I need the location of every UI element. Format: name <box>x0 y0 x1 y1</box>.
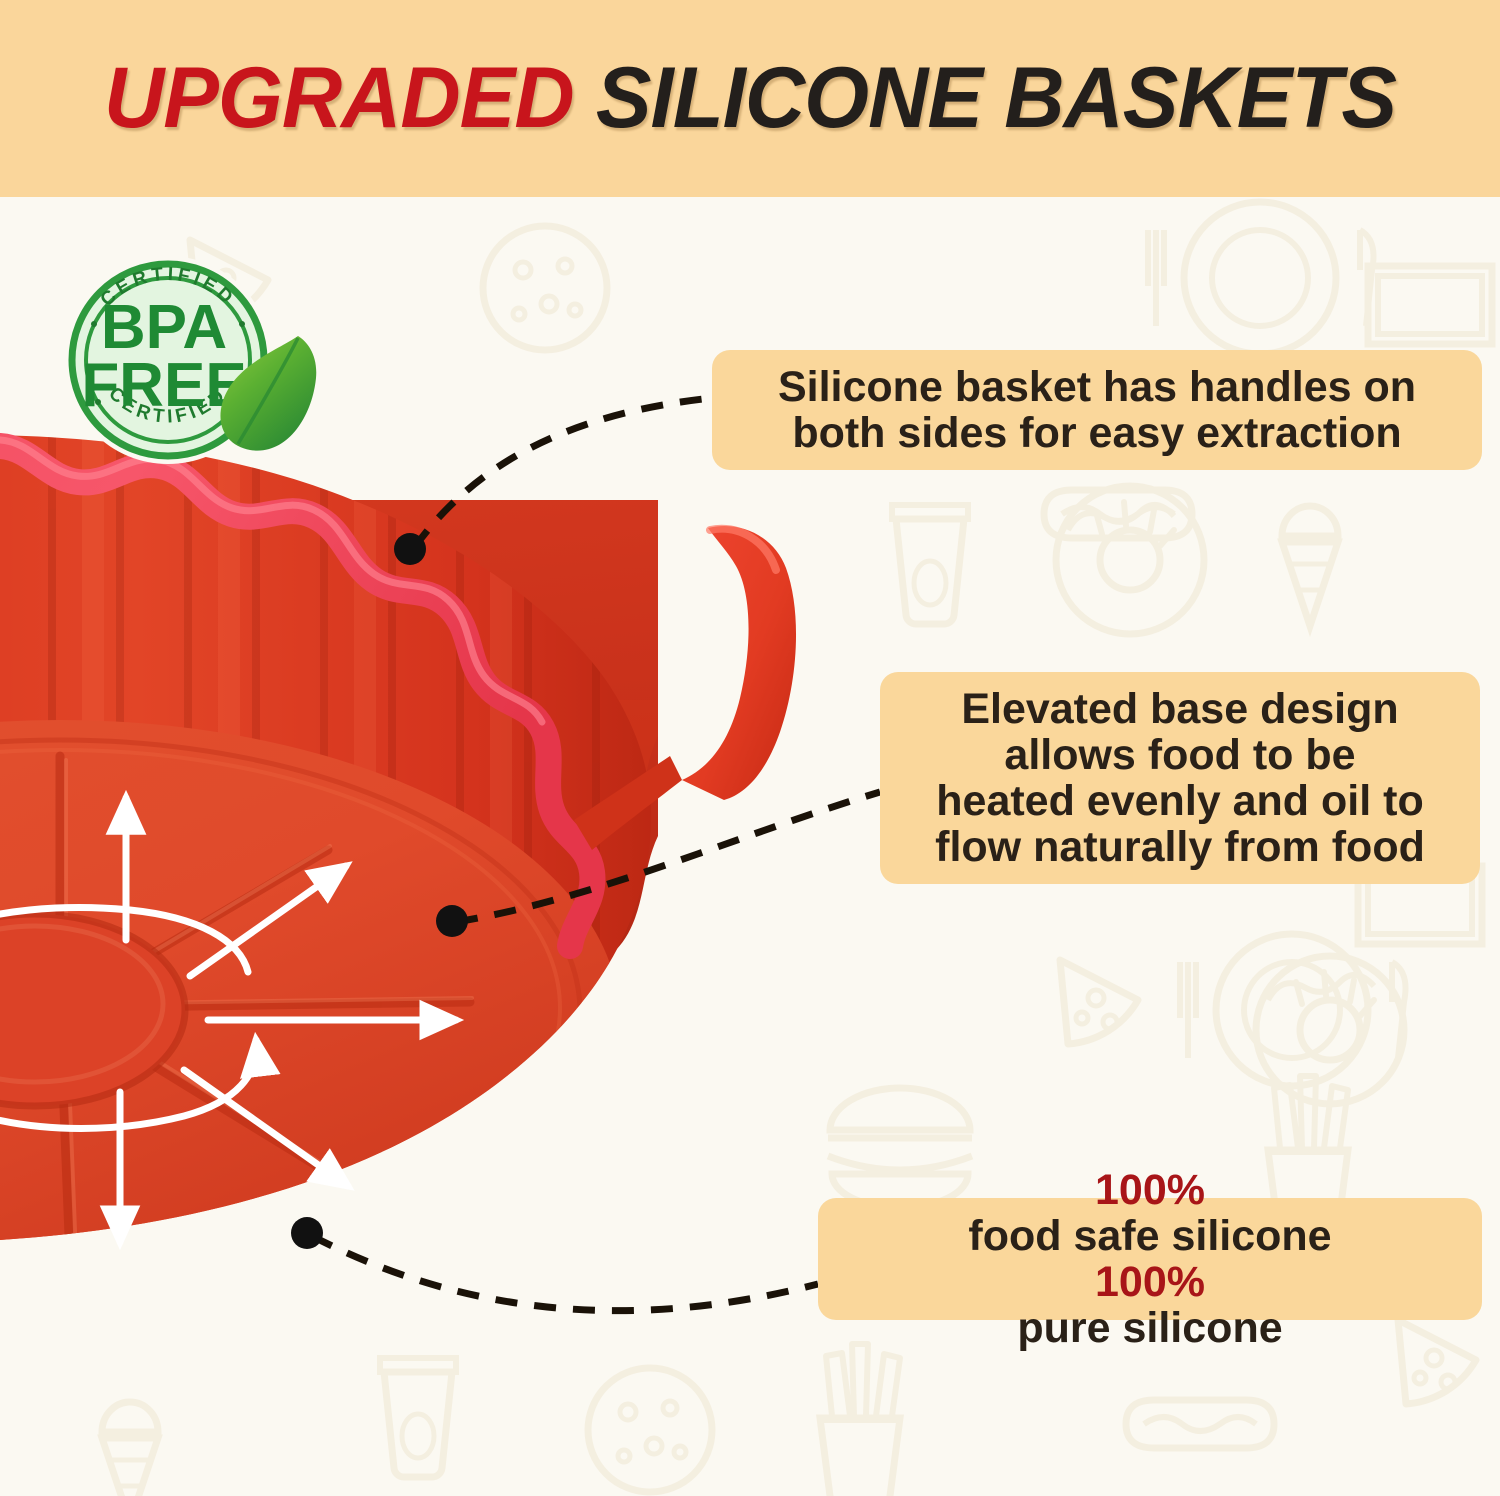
title-highlight: UPGRADED <box>104 50 574 146</box>
callout-safe-line-2: 100% pure silicone <box>1017 1259 1282 1351</box>
callout-safe-line-1: 100% food safe silicone <box>968 1167 1331 1259</box>
title-rest: SILICONE BASKETS <box>574 50 1396 146</box>
callout-safe-text-2: pure silicone <box>1017 1305 1282 1351</box>
arrow-downright <box>184 1070 348 1186</box>
arrow-circular-bottom <box>0 1040 256 1128</box>
bpa-free-badge: CERTIFIED CERTIFIED BPA FREE <box>46 238 346 473</box>
callout-handles: Silicone basket has handles on both side… <box>712 350 1482 470</box>
callout-safe-text-1: food safe silicone <box>968 1213 1331 1259</box>
callout-safe-pct-1: 100% <box>968 1167 1331 1213</box>
arrow-upright <box>190 866 346 976</box>
callout-base-line-4: flow naturally from food <box>935 824 1425 870</box>
callout-handles-line-2: both sides for easy extraction <box>792 410 1401 456</box>
callout-base-line-1: Elevated base design <box>961 686 1398 732</box>
airflow-arrows <box>0 380 860 1380</box>
callout-base-line-2: allows food to be <box>1004 732 1355 778</box>
callout-food-safe: 100% food safe silicone 100% pure silico… <box>818 1198 1482 1320</box>
header-banner: UPGRADED SILICONE BASKETS <box>0 0 1500 197</box>
infographic-canvas: CERTIFIED CERTIFIED BPA FREE UPGRADED SI… <box>0 0 1500 1496</box>
page-title: UPGRADED SILICONE BASKETS <box>104 49 1396 148</box>
callout-elevated-base: Elevated base design allows food to be h… <box>880 672 1480 884</box>
callout-safe-pct-2: 100% <box>1017 1259 1282 1305</box>
callout-base-line-3: heated evenly and oil to <box>936 778 1423 824</box>
callout-handles-line-1: Silicone basket has handles on <box>778 364 1416 410</box>
